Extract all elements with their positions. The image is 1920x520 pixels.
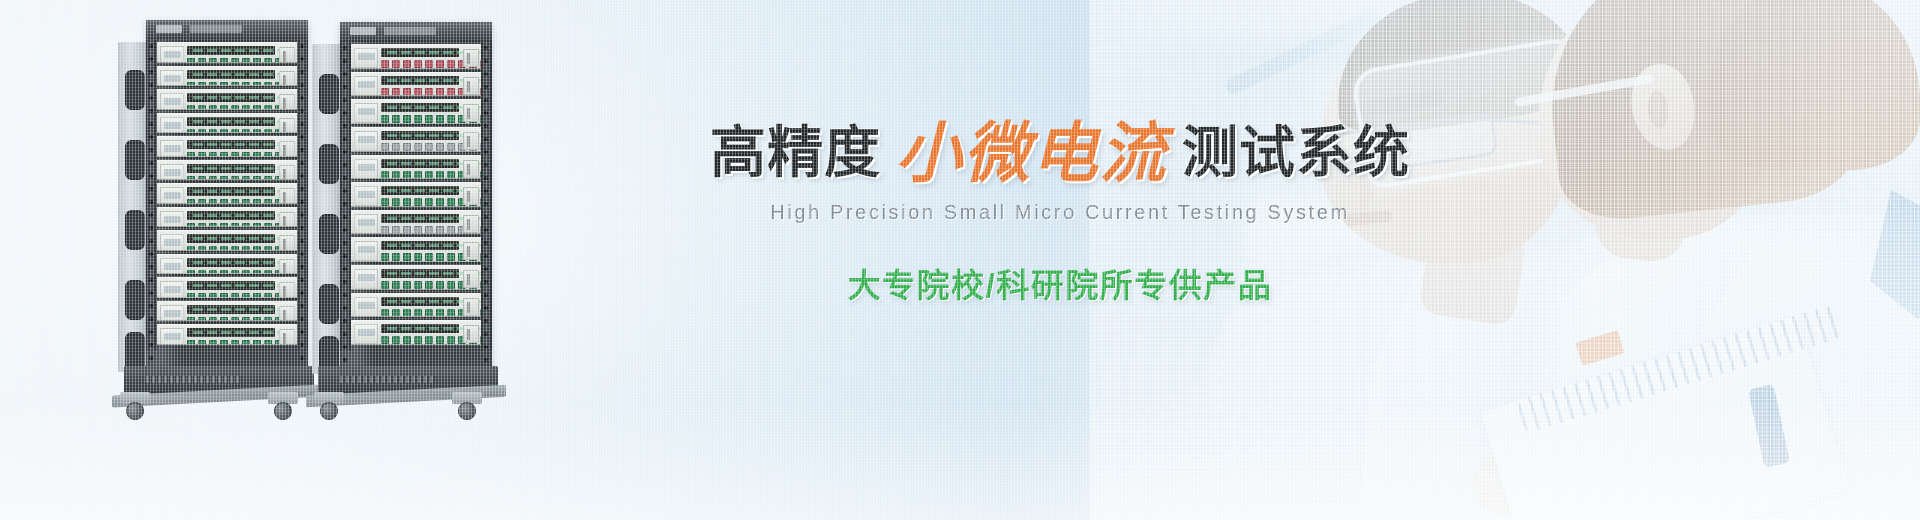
panel-port <box>381 226 389 234</box>
panel-port <box>381 253 389 261</box>
rack-rail-hole <box>300 278 304 282</box>
panel-right-module <box>279 259 295 275</box>
rack-rail-hole <box>149 356 153 360</box>
rack-rail-hole <box>149 70 153 74</box>
panel-port <box>242 246 250 251</box>
panel-port <box>242 223 250 228</box>
panel-display <box>354 186 378 206</box>
panel-port-row <box>187 57 275 63</box>
panel-port <box>264 199 272 204</box>
panel-display <box>354 48 378 68</box>
panel-port <box>447 171 455 179</box>
panel-port <box>220 317 228 322</box>
panel-right-module <box>463 104 479 122</box>
rack-rail-hole <box>484 319 488 323</box>
rack-rail-hole <box>343 280 347 284</box>
instrument-panel <box>351 210 481 235</box>
rack-rail-hole <box>484 111 488 115</box>
panel-port <box>414 143 422 151</box>
rack-rail-hole <box>300 187 304 191</box>
panel-port <box>447 336 455 344</box>
rack-rail-hole <box>149 304 153 308</box>
panel-port <box>480 253 481 261</box>
rack-rail-hole <box>149 291 153 295</box>
instrument-panel <box>157 42 297 63</box>
panel-port <box>253 129 261 134</box>
rack-rail-hole <box>149 57 153 61</box>
panel-port <box>198 82 206 87</box>
rack-rail-hole <box>149 122 153 126</box>
panel-right-module <box>463 270 479 288</box>
panel-port <box>253 340 261 345</box>
panel-port <box>220 58 228 63</box>
panel-port <box>403 115 411 123</box>
panel-port-row <box>187 81 275 87</box>
rack-rail-hole <box>484 228 488 232</box>
panel-port <box>403 309 411 317</box>
rack-rail-hole <box>300 213 304 217</box>
rack-rail-hole <box>300 109 304 113</box>
panel-port <box>381 115 389 123</box>
rack-rail-hole <box>300 44 304 48</box>
rack-rail-hole <box>343 85 347 89</box>
panel-port-row <box>381 197 459 207</box>
panel-port <box>425 115 433 123</box>
panel-port <box>187 340 195 345</box>
panel-port <box>253 223 261 228</box>
panel-port-row <box>187 104 275 110</box>
instrument-panel <box>351 72 481 97</box>
instrument-panel <box>157 136 297 157</box>
rack-rail-hole <box>300 200 304 204</box>
panel-display <box>160 46 184 63</box>
rack-rail-hole <box>343 59 347 63</box>
panel-port <box>198 58 206 63</box>
panel-port <box>231 82 239 87</box>
panel-port <box>209 293 217 298</box>
panel-port <box>264 82 272 87</box>
rack-right-panel-stack <box>351 44 481 348</box>
rack-rail-hole <box>300 343 304 347</box>
panel-port <box>392 253 400 261</box>
panel-port <box>187 317 195 322</box>
panel-port <box>198 152 206 157</box>
panel-port <box>425 88 433 96</box>
panel-port <box>392 198 400 206</box>
panel-port <box>242 152 250 157</box>
panel-port <box>264 223 272 228</box>
equipment-racks <box>0 0 560 520</box>
panel-port <box>264 293 272 298</box>
rack-rail-hole <box>149 343 153 347</box>
rack-rail-hole <box>149 174 153 178</box>
panel-port-row <box>187 222 275 228</box>
panel-port <box>436 171 444 179</box>
rack-rail-hole <box>343 345 347 349</box>
rack-right-header <box>340 22 492 42</box>
panel-port-row <box>187 175 275 181</box>
panel-port <box>198 340 206 345</box>
panel-port <box>264 105 272 110</box>
panel-right-module <box>463 298 479 316</box>
panel-port <box>198 293 206 298</box>
panel-port <box>231 199 239 204</box>
panel-port <box>231 246 239 251</box>
panel-port-row <box>381 170 459 180</box>
rack-rail-hole <box>300 174 304 178</box>
panel-screen <box>381 186 459 195</box>
panel-port <box>209 152 217 157</box>
panel-screen <box>381 159 459 168</box>
rack-rail-hole <box>484 293 488 297</box>
rack-rail-hole <box>343 202 347 206</box>
rack-rail-hole <box>484 332 488 336</box>
panel-port <box>198 223 206 228</box>
panel-port <box>392 88 400 96</box>
panel-port <box>253 317 261 322</box>
panel-port <box>403 226 411 234</box>
panel-port <box>253 176 261 181</box>
instrument-panel <box>351 44 481 69</box>
panel-port <box>436 60 444 68</box>
rack-rail-hole <box>149 96 153 100</box>
rack-rail-hole <box>343 358 347 362</box>
panel-screen <box>187 70 275 79</box>
panel-port <box>392 171 400 179</box>
panel-display <box>354 241 378 261</box>
rack-rail-hole <box>484 280 488 284</box>
rack-rail-hole <box>149 187 153 191</box>
panel-display <box>354 159 378 179</box>
rack-rail-hole <box>149 109 153 113</box>
rack-right <box>312 22 492 420</box>
panel-port <box>392 336 400 344</box>
rack-rail-hole <box>149 239 153 243</box>
panel-right-module <box>279 235 295 251</box>
panel-display <box>160 211 184 228</box>
panel-display <box>160 93 184 110</box>
rack-rail-hole <box>484 124 488 128</box>
panel-display <box>354 269 378 289</box>
panel-port <box>403 88 411 96</box>
rack-rail-hole <box>343 150 347 154</box>
title-part-orange: 小微电流 <box>896 114 1168 192</box>
rack-rail-hole <box>343 228 347 232</box>
panel-screen <box>187 140 275 149</box>
instrument-panel <box>351 182 481 207</box>
panel-port <box>242 270 250 275</box>
rack-rail-hole <box>149 213 153 217</box>
instrument-panel <box>157 113 297 134</box>
rack-rail-hole <box>343 163 347 167</box>
panel-port <box>425 171 433 179</box>
rack-rail-hole <box>343 111 347 115</box>
banner-copy: 高精度 小微电流 测试系统 High Precision Small Micro… <box>620 120 1500 307</box>
rack-rail-hole <box>343 306 347 310</box>
panel-port <box>187 270 195 275</box>
instrument-panel <box>157 254 297 275</box>
panel-port <box>242 199 250 204</box>
panel-port <box>242 58 250 63</box>
panel-port-row <box>187 339 275 345</box>
panel-right-module <box>463 187 479 205</box>
panel-port <box>392 309 400 317</box>
panel-port <box>414 281 422 289</box>
panel-port <box>187 152 195 157</box>
panel-port <box>231 270 239 275</box>
panel-port <box>480 281 481 289</box>
panel-port <box>187 176 195 181</box>
instrument-panel <box>157 207 297 228</box>
panel-port <box>187 105 195 110</box>
panel-port <box>198 105 206 110</box>
rack-rail-hole <box>149 200 153 204</box>
panel-port <box>264 176 272 181</box>
rack-model-badge <box>384 27 436 35</box>
panel-port <box>220 340 228 345</box>
panel-port <box>220 246 228 251</box>
panel-port <box>242 176 250 181</box>
panel-port <box>403 171 411 179</box>
rack-rail-hole <box>484 59 488 63</box>
rack-rail-hole <box>343 267 347 271</box>
panel-port-row <box>381 280 459 290</box>
panel-screen <box>381 269 459 278</box>
instrument-panel <box>157 66 297 87</box>
panel-port <box>414 115 422 123</box>
panel-port <box>242 105 250 110</box>
rack-rail-hole <box>149 278 153 282</box>
rack-rail-hole <box>149 148 153 152</box>
panel-port-row <box>381 335 459 345</box>
panel-port <box>187 82 195 87</box>
panel-port <box>447 115 455 123</box>
rack-rail-hole <box>300 83 304 87</box>
rack-rail-hole <box>300 356 304 360</box>
panel-port <box>220 129 228 134</box>
instrument-panel <box>351 127 481 152</box>
panel-port-row <box>381 252 459 262</box>
rack-rail-hole <box>484 345 488 349</box>
rack-rail-hole <box>484 163 488 167</box>
panel-screen <box>381 214 459 223</box>
panel-screen <box>381 324 459 333</box>
panel-screen <box>381 297 459 306</box>
panel-port <box>381 143 389 151</box>
instrument-panel <box>157 324 297 345</box>
panel-screen <box>187 93 275 102</box>
panel-port <box>447 143 455 151</box>
panel-port <box>187 199 195 204</box>
panel-port <box>209 317 217 322</box>
panel-port <box>480 336 481 344</box>
panel-port <box>425 281 433 289</box>
instrument-panel <box>157 301 297 322</box>
panel-screen <box>187 234 275 243</box>
rack-left-rail-left <box>146 40 157 350</box>
panel-port <box>231 176 239 181</box>
instrument-panel <box>157 183 297 204</box>
rack-rail-hole <box>149 226 153 230</box>
rack-rail-hole <box>343 293 347 297</box>
rack-rail-hole <box>300 265 304 269</box>
panel-display <box>160 164 184 181</box>
panel-port <box>209 246 217 251</box>
rack-left-vents <box>146 376 242 383</box>
panel-port <box>403 198 411 206</box>
panel-port <box>447 226 455 234</box>
rack-rail-hole <box>300 96 304 100</box>
panel-right-module <box>463 215 479 233</box>
rack-rail-hole <box>300 57 304 61</box>
panel-port <box>480 60 481 68</box>
panel-display <box>160 140 184 157</box>
panel-right-module <box>279 212 295 228</box>
rack-rail-hole <box>484 202 488 206</box>
instrument-panel <box>351 237 481 262</box>
rack-left-frame <box>146 20 308 374</box>
panel-port <box>264 129 272 134</box>
panel-port <box>414 198 422 206</box>
rack-rail-hole <box>300 148 304 152</box>
rack-right-caster-front <box>314 392 344 418</box>
panel-right-module <box>279 306 295 322</box>
panel-port <box>447 253 455 261</box>
panel-port <box>381 171 389 179</box>
panel-port-row <box>381 225 459 235</box>
rack-rail-hole <box>343 254 347 258</box>
instrument-panel <box>351 99 481 124</box>
tagline: 大专院校/科研院所专供产品 <box>620 259 1500 307</box>
panel-right-module <box>463 160 479 178</box>
panel-port <box>253 58 261 63</box>
panel-port <box>198 199 206 204</box>
panel-display <box>160 258 184 275</box>
panel-port-row <box>187 128 275 134</box>
panel-port <box>392 115 400 123</box>
rack-rail-hole <box>343 176 347 180</box>
rack-rail-hole <box>149 330 153 334</box>
panel-port <box>403 281 411 289</box>
panel-port <box>187 293 195 298</box>
panel-port <box>220 223 228 228</box>
rack-rail-hole <box>300 330 304 334</box>
panel-port <box>403 60 411 68</box>
panel-port-row <box>187 245 275 251</box>
rack-rail-hole <box>300 161 304 165</box>
rack-left-rail-right <box>297 40 308 350</box>
panel-port <box>403 253 411 261</box>
panel-screen <box>187 281 275 290</box>
panel-port <box>436 253 444 261</box>
rack-rail-hole <box>484 254 488 258</box>
panel-screen <box>381 103 459 112</box>
panel-port <box>198 129 206 134</box>
panel-port <box>264 58 272 63</box>
panel-port <box>436 115 444 123</box>
panel-port <box>220 176 228 181</box>
panel-port <box>425 253 433 261</box>
panel-port <box>414 253 422 261</box>
rack-rail-hole <box>343 72 347 76</box>
title-part-black-left: 高精度 <box>710 121 881 184</box>
panel-port <box>447 309 455 317</box>
rack-rail-hole <box>484 306 488 310</box>
panel-right-module <box>279 188 295 204</box>
panel-port <box>414 88 422 96</box>
panel-display <box>160 328 184 345</box>
rack-rail-hole <box>343 189 347 193</box>
instrument-panel <box>351 265 481 290</box>
rack-rail-hole <box>149 83 153 87</box>
panel-port <box>425 60 433 68</box>
rack-rail-hole <box>149 135 153 139</box>
panel-screen <box>187 258 275 267</box>
panel-port <box>242 129 250 134</box>
rack-rail-hole <box>149 252 153 256</box>
panel-screen <box>187 187 275 196</box>
rack-rail-hole <box>300 239 304 243</box>
panel-display <box>160 70 184 87</box>
panel-port <box>231 129 239 134</box>
rack-rail-hole <box>484 72 488 76</box>
panel-port <box>480 226 481 234</box>
panel-port <box>381 336 389 344</box>
rack-right-frame <box>340 22 492 374</box>
panel-right-module <box>463 132 479 150</box>
panel-port <box>231 105 239 110</box>
panel-right-module <box>463 325 479 343</box>
rack-brand-badge <box>350 27 376 35</box>
rack-rail-hole <box>484 267 488 271</box>
panel-port <box>436 198 444 206</box>
panel-display <box>160 234 184 251</box>
panel-port <box>198 246 206 251</box>
panel-port <box>425 309 433 317</box>
panel-port <box>209 105 217 110</box>
panel-port <box>198 317 206 322</box>
panel-port-row <box>187 292 275 298</box>
panel-display <box>354 131 378 151</box>
panel-right-module <box>279 47 295 63</box>
rack-rail-hole <box>300 226 304 230</box>
panel-port <box>436 281 444 289</box>
instrument-panel <box>157 160 297 181</box>
panel-display <box>160 187 184 204</box>
panel-port <box>414 171 422 179</box>
rack-rail-hole <box>300 122 304 126</box>
panel-port <box>242 317 250 322</box>
panel-port <box>381 198 389 206</box>
panel-port <box>414 309 422 317</box>
rack-rail-hole <box>149 265 153 269</box>
rack-left-panel-stack <box>157 42 297 348</box>
panel-port <box>414 60 422 68</box>
panel-display <box>354 297 378 317</box>
panel-port <box>187 246 195 251</box>
panel-port <box>187 129 195 134</box>
rack-rail-hole <box>300 317 304 321</box>
rack-brand-badge <box>156 25 182 33</box>
panel-port <box>425 198 433 206</box>
rack-right-rail-left <box>340 42 351 350</box>
panel-right-module <box>463 242 479 260</box>
rack-left <box>118 20 308 420</box>
panel-port <box>242 82 250 87</box>
panel-port-row <box>187 198 275 204</box>
rack-rail-hole <box>343 332 347 336</box>
rack-rail-hole <box>149 44 153 48</box>
